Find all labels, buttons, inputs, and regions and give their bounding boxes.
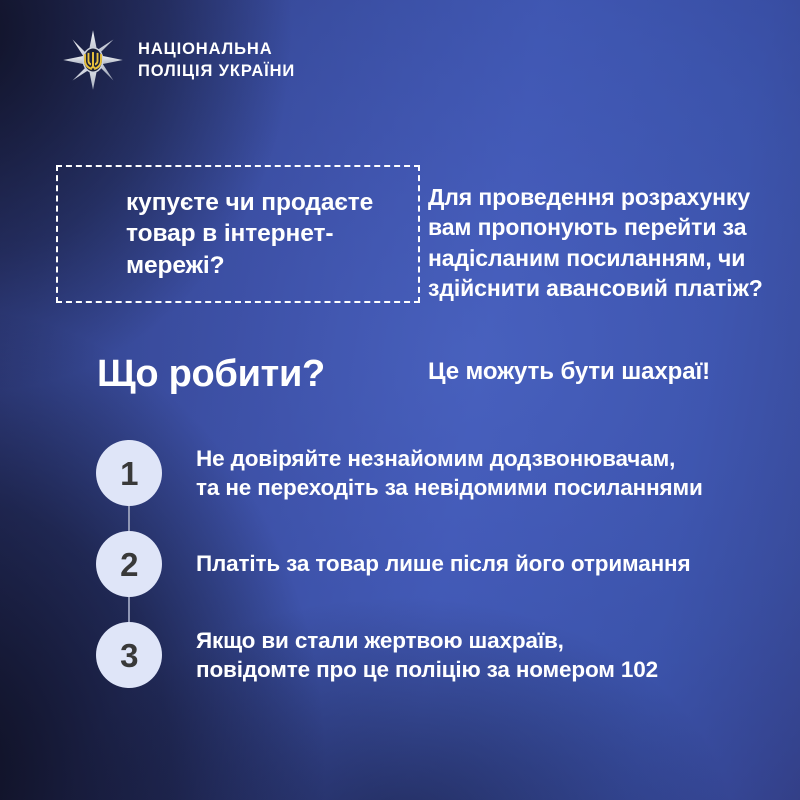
scam-warning-text: Це можуть бути шахраї! — [428, 358, 710, 387]
list-item: 3 Якщо ви стали жертвою шахраїв, повідом… — [96, 622, 796, 688]
police-star-badge-icon — [62, 29, 124, 91]
step-text: Платіть за товар лише після його отриман… — [162, 549, 690, 578]
step-text-line-2: повідомте про це поліцію за номером 102 — [196, 655, 658, 684]
step-number-badge: 2 — [96, 531, 162, 597]
brand-line-2: ПОЛІЦІЯ УКРАЇНИ — [138, 62, 295, 81]
infographic-poster: НАЦІОНАЛЬНА ПОЛІЦІЯ УКРАЇНИ купуєте чи п… — [0, 0, 800, 800]
step-number-badge: 1 — [96, 440, 162, 506]
offer-description-text: Для проведення розрахунку вам пропонують… — [428, 182, 788, 303]
step-text-line-1: Платіть за товар лише після його отриман… — [196, 549, 690, 578]
steps-list: 1 Не довіряйте незнайомим додзвонювачам,… — [96, 440, 796, 688]
step-number-badge: 3 — [96, 622, 162, 688]
step-text-line-1: Не довіряйте незнайомим додзвонювачам, — [196, 444, 703, 473]
step-text-line-1: Якщо ви стали жертвою шахраїв, — [196, 626, 658, 655]
question-boxed-text: купуєте чи продаєте товар в інтернет-мер… — [58, 187, 418, 280]
list-item: 1 Не довіряйте незнайомим додзвонювачам,… — [96, 440, 796, 506]
brand-header: НАЦІОНАЛЬНА ПОЛІЦІЯ УКРАЇНИ — [62, 29, 295, 91]
brand-wordmark: НАЦІОНАЛЬНА ПОЛІЦІЯ УКРАЇНИ — [138, 39, 295, 81]
list-item: 2 Платіть за товар лише після його отрим… — [96, 531, 796, 597]
question-dashed-box: купуєте чи продаєте товар в інтернет-мер… — [56, 165, 420, 303]
step-text: Не довіряйте незнайомим додзвонювачам, т… — [162, 444, 703, 503]
step-text-line-2: та не переходіть за невідомими посилання… — [196, 473, 703, 502]
brand-line-1: НАЦІОНАЛЬНА — [138, 40, 295, 59]
step-text: Якщо ви стали жертвою шахраїв, повідомте… — [162, 626, 658, 685]
what-to-do-heading: Що робити? — [97, 354, 325, 396]
